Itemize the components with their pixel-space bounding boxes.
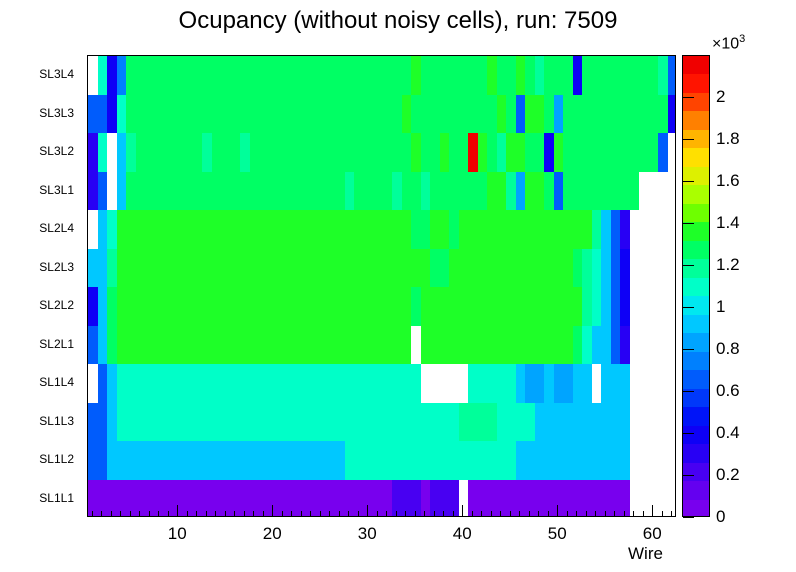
heatmap-cell xyxy=(231,56,241,95)
heatmap-cell xyxy=(582,172,592,211)
heatmap-cell xyxy=(164,210,174,249)
x-axis-minor-tick xyxy=(206,511,207,517)
x-axis-minor-tick xyxy=(111,511,112,517)
heatmap-cell xyxy=(316,249,326,288)
heatmap-cell xyxy=(278,326,288,365)
heatmap-cell xyxy=(212,56,222,95)
heatmap-cell xyxy=(392,287,402,326)
heatmap-cell xyxy=(88,441,98,480)
heatmap-cell xyxy=(212,249,222,288)
heatmap-cell xyxy=(516,403,526,442)
heatmap-cell xyxy=(554,210,564,249)
heatmap-cell xyxy=(411,172,421,211)
heatmap-cell xyxy=(164,172,174,211)
heatmap-cell xyxy=(411,441,421,480)
x-axis-major-tick xyxy=(652,505,653,517)
heatmap-cell xyxy=(98,210,108,249)
x-axis-minor-tick xyxy=(282,511,283,517)
heatmap-cell xyxy=(582,364,592,403)
heatmap-cell xyxy=(478,210,488,249)
heatmap-cell xyxy=(611,133,621,172)
heatmap-cell xyxy=(117,56,127,95)
heatmap-cell xyxy=(468,326,478,365)
heatmap-cell xyxy=(259,364,269,403)
heatmap-cell xyxy=(516,480,526,518)
x-axis-minor-tick xyxy=(443,511,444,517)
heatmap-cell xyxy=(478,56,488,95)
heatmap-cell xyxy=(535,364,545,403)
heatmap-cell xyxy=(326,480,336,518)
heatmap-cell xyxy=(240,210,250,249)
heatmap-cell xyxy=(468,133,478,172)
heatmap-cell xyxy=(288,364,298,403)
heatmap-cell xyxy=(554,441,564,480)
heatmap-cell xyxy=(221,287,231,326)
heatmap-cell xyxy=(525,133,535,172)
heatmap-cell xyxy=(516,95,526,134)
heatmap-cell xyxy=(516,364,526,403)
heatmap-cell xyxy=(364,480,374,518)
heatmap-cell xyxy=(288,172,298,211)
x-axis-minor-tick xyxy=(291,511,292,517)
heatmap-cell xyxy=(383,249,393,288)
x-axis-minor-tick xyxy=(396,511,397,517)
heatmap-cell xyxy=(563,249,573,288)
x-axis-title: Wire xyxy=(628,545,663,562)
heatmap-cells xyxy=(88,56,675,516)
heatmap-cell xyxy=(202,172,212,211)
heatmap-cell xyxy=(288,56,298,95)
heatmap-cell xyxy=(516,210,526,249)
heatmap-cell xyxy=(554,95,564,134)
heatmap-cell xyxy=(402,326,412,365)
colorbar-band xyxy=(683,185,709,204)
colorbar-tick-label: 1.6 xyxy=(716,172,740,189)
x-axis-minor-tick xyxy=(586,511,587,517)
heatmap-cell xyxy=(364,95,374,134)
heatmap-plot-area[interactable] xyxy=(87,55,676,517)
heatmap-cell xyxy=(107,403,117,442)
heatmap-cell xyxy=(373,403,383,442)
heatmap-cell xyxy=(297,249,307,288)
heatmap-cell xyxy=(535,441,545,480)
heatmap-cell xyxy=(278,403,288,442)
heatmap-cell xyxy=(592,172,602,211)
heatmap-cell xyxy=(459,249,469,288)
heatmap-cell xyxy=(98,172,108,211)
heatmap-cell xyxy=(335,133,345,172)
heatmap-cell xyxy=(468,287,478,326)
heatmap-cell xyxy=(193,56,203,95)
heatmap-cell xyxy=(335,210,345,249)
heatmap-cell xyxy=(240,95,250,134)
heatmap-cell xyxy=(497,326,507,365)
heatmap-cell xyxy=(335,403,345,442)
heatmap-cell xyxy=(421,210,431,249)
heatmap-cell xyxy=(611,56,621,95)
colorbar-tick-label: 0 xyxy=(716,508,725,525)
heatmap-cell xyxy=(497,441,507,480)
heatmap-cell xyxy=(392,326,402,365)
y-axis-label-sl2l3: SL2L3 xyxy=(39,261,74,273)
heatmap-cell xyxy=(250,441,260,480)
heatmap-cell xyxy=(554,480,564,518)
heatmap-cell xyxy=(107,56,117,95)
colorbar-band xyxy=(683,426,709,445)
heatmap-cell xyxy=(88,133,98,172)
heatmap-cell xyxy=(345,403,355,442)
heatmap-cell xyxy=(364,249,374,288)
heatmap-cell xyxy=(174,403,184,442)
heatmap-cell xyxy=(364,287,374,326)
heatmap-cell xyxy=(164,95,174,134)
heatmap-cell xyxy=(269,403,279,442)
heatmap-cell xyxy=(601,172,611,211)
heatmap-cell xyxy=(658,95,668,134)
y-axis-label-sl3l3: SL3L3 xyxy=(39,107,74,119)
heatmap-cell xyxy=(316,95,326,134)
x-axis-minor-tick xyxy=(263,511,264,517)
heatmap-cell xyxy=(506,287,516,326)
heatmap-cell xyxy=(326,210,336,249)
heatmap-cell xyxy=(326,249,336,288)
heatmap-cell xyxy=(107,364,117,403)
x-axis-major-tick xyxy=(272,505,273,517)
heatmap-cell xyxy=(364,364,374,403)
heatmap-cell xyxy=(421,403,431,442)
heatmap-cell xyxy=(231,210,241,249)
heatmap-cell xyxy=(554,172,564,211)
heatmap-cell xyxy=(354,210,364,249)
heatmap-cell xyxy=(98,249,108,288)
heatmap-cell xyxy=(582,326,592,365)
heatmap-cell xyxy=(98,364,108,403)
y-axis-label-sl1l3: SL1L3 xyxy=(39,415,74,427)
heatmap-cell xyxy=(601,441,611,480)
heatmap-cell xyxy=(297,364,307,403)
heatmap-cell xyxy=(421,133,431,172)
heatmap-cell xyxy=(383,95,393,134)
heatmap-cell xyxy=(459,133,469,172)
heatmap-cell xyxy=(411,287,421,326)
heatmap-cell xyxy=(221,441,231,480)
heatmap-cell xyxy=(668,95,677,134)
x-axis-minor-tick xyxy=(196,511,197,517)
heatmap-cell xyxy=(478,133,488,172)
heatmap-cell xyxy=(592,95,602,134)
heatmap-cell xyxy=(468,210,478,249)
heatmap-cell xyxy=(136,480,146,518)
heatmap-cell xyxy=(231,287,241,326)
heatmap-cell xyxy=(240,326,250,365)
heatmap-cell xyxy=(250,480,260,518)
colorbar-tick-label: 0.4 xyxy=(716,424,740,441)
colorbar-band xyxy=(683,167,709,186)
heatmap-cell xyxy=(639,133,649,172)
heatmap-cell xyxy=(269,364,279,403)
heatmap-cell xyxy=(554,287,564,326)
heatmap-cell xyxy=(259,56,269,95)
colorbar-band xyxy=(683,74,709,93)
colorbar-tick xyxy=(683,349,694,350)
heatmap-cell xyxy=(601,56,611,95)
heatmap-cell xyxy=(88,249,98,288)
heatmap-cell xyxy=(307,95,317,134)
heatmap-cell xyxy=(278,56,288,95)
x-axis-minor-tick xyxy=(405,511,406,517)
heatmap-cell xyxy=(288,326,298,365)
heatmap-cell xyxy=(126,326,136,365)
heatmap-cell xyxy=(563,441,573,480)
heatmap-cell xyxy=(592,441,602,480)
heatmap-cell xyxy=(345,364,355,403)
x-axis-minor-tick xyxy=(92,511,93,517)
heatmap-cell xyxy=(383,287,393,326)
heatmap-cell xyxy=(98,441,108,480)
heatmap-cell xyxy=(212,133,222,172)
heatmap-cell xyxy=(354,56,364,95)
heatmap-cell xyxy=(269,480,279,518)
heatmap-cell xyxy=(658,133,668,172)
heatmap-cell xyxy=(478,249,488,288)
heatmap-cell xyxy=(573,133,583,172)
colorbar-tick-label: 2 xyxy=(716,88,725,105)
heatmap-cell xyxy=(278,364,288,403)
heatmap-cell xyxy=(592,56,602,95)
heatmap-cell xyxy=(497,364,507,403)
colorbar-band xyxy=(683,315,709,334)
heatmap-cell xyxy=(145,95,155,134)
heatmap-cell xyxy=(459,172,469,211)
heatmap-cell xyxy=(326,364,336,403)
heatmap-cell xyxy=(269,287,279,326)
colorbar-tick xyxy=(683,139,694,140)
heatmap-cell xyxy=(449,287,459,326)
heatmap-cell xyxy=(525,364,535,403)
heatmap-cell xyxy=(278,249,288,288)
heatmap-cell xyxy=(259,210,269,249)
heatmap-cell xyxy=(563,210,573,249)
heatmap-cell xyxy=(126,441,136,480)
heatmap-cell xyxy=(316,364,326,403)
heatmap-cell xyxy=(107,249,117,288)
heatmap-cell xyxy=(392,210,402,249)
heatmap-cell xyxy=(592,133,602,172)
heatmap-cell xyxy=(297,287,307,326)
heatmap-cell xyxy=(582,56,592,95)
heatmap-cell xyxy=(630,56,640,95)
x-axis-minor-tick xyxy=(472,511,473,517)
heatmap-cell xyxy=(364,133,374,172)
heatmap-cell xyxy=(411,133,421,172)
heatmap-cell xyxy=(117,441,127,480)
heatmap-cell xyxy=(506,56,516,95)
heatmap-cell xyxy=(411,95,421,134)
heatmap-cell xyxy=(278,133,288,172)
heatmap-cell xyxy=(459,210,469,249)
heatmap-cell xyxy=(449,56,459,95)
heatmap-cell xyxy=(364,56,374,95)
heatmap-cell xyxy=(535,95,545,134)
heatmap-cell xyxy=(221,172,231,211)
heatmap-cell xyxy=(183,287,193,326)
heatmap-cell xyxy=(307,287,317,326)
heatmap-cell xyxy=(611,172,621,211)
colorbar-tick xyxy=(683,433,694,434)
heatmap-cell xyxy=(620,441,630,480)
heatmap-cell xyxy=(506,326,516,365)
heatmap-cell xyxy=(573,249,583,288)
heatmap-cell xyxy=(592,287,602,326)
heatmap-cell xyxy=(440,249,450,288)
heatmap-cell xyxy=(316,56,326,95)
x-axis-minor-tick xyxy=(529,511,530,517)
heatmap-cell xyxy=(250,172,260,211)
x-axis-minor-tick xyxy=(215,511,216,517)
heatmap-cell xyxy=(506,172,516,211)
heatmap-cell xyxy=(307,133,317,172)
heatmap-cell xyxy=(630,133,640,172)
heatmap-cell xyxy=(259,403,269,442)
heatmap-cell xyxy=(183,441,193,480)
heatmap-cell xyxy=(221,364,231,403)
heatmap-cell xyxy=(231,133,241,172)
heatmap-cell xyxy=(573,364,583,403)
heatmap-cell xyxy=(126,287,136,326)
heatmap-cell xyxy=(611,210,621,249)
root-canvas: Ocupancy (without noisy cells), run: 750… xyxy=(0,0,796,572)
heatmap-cell xyxy=(535,133,545,172)
heatmap-cell xyxy=(535,210,545,249)
x-axis-minor-tick xyxy=(519,511,520,517)
heatmap-cell xyxy=(630,95,640,134)
heatmap-cell xyxy=(98,403,108,442)
colorbar-tick xyxy=(683,391,694,392)
heatmap-cell xyxy=(193,403,203,442)
heatmap-cell xyxy=(212,172,222,211)
heatmap-cell xyxy=(117,480,127,518)
heatmap-cell xyxy=(487,441,497,480)
heatmap-cell xyxy=(639,95,649,134)
heatmap-cell xyxy=(183,133,193,172)
heatmap-cell xyxy=(430,210,440,249)
heatmap-cell xyxy=(155,56,165,95)
heatmap-cell xyxy=(326,326,336,365)
heatmap-cell xyxy=(136,172,146,211)
colorbar-band xyxy=(683,111,709,130)
heatmap-cell xyxy=(525,287,535,326)
y-axis-labels: SL3L4SL3L3SL3L2SL3L1SL2L4SL2L3SL2L2SL2L1… xyxy=(0,55,82,517)
heatmap-cell xyxy=(421,56,431,95)
heatmap-cell xyxy=(592,249,602,288)
x-axis-minor-tick xyxy=(434,511,435,517)
colorbar-band xyxy=(683,241,709,260)
heatmap-cell xyxy=(601,249,611,288)
colorbar-tick xyxy=(683,517,694,518)
x-axis-major-tick xyxy=(557,505,558,517)
heatmap-cell xyxy=(535,172,545,211)
heatmap-cell xyxy=(392,403,402,442)
heatmap-cell xyxy=(630,172,640,211)
heatmap-cell xyxy=(421,172,431,211)
heatmap-cell xyxy=(240,133,250,172)
heatmap-cell xyxy=(345,249,355,288)
heatmap-cell xyxy=(98,480,108,518)
x-axis-major-tick xyxy=(177,505,178,517)
heatmap-cell xyxy=(582,95,592,134)
heatmap-cell xyxy=(383,326,393,365)
heatmap-cell xyxy=(288,441,298,480)
heatmap-cell xyxy=(136,326,146,365)
heatmap-cell xyxy=(506,95,516,134)
heatmap-cell xyxy=(611,287,621,326)
heatmap-cell xyxy=(193,133,203,172)
colorbar-band xyxy=(683,56,709,75)
heatmap-cell xyxy=(449,95,459,134)
heatmap-cell xyxy=(259,95,269,134)
heatmap-cell xyxy=(392,133,402,172)
heatmap-cell xyxy=(392,441,402,480)
heatmap-cell xyxy=(307,56,317,95)
x-axis-minor-tick xyxy=(510,511,511,517)
heatmap-cell xyxy=(117,172,127,211)
colorbar-tick-label: 0.6 xyxy=(716,382,740,399)
heatmap-cell xyxy=(231,249,241,288)
x-axis-minor-tick xyxy=(453,511,454,517)
heatmap-cell xyxy=(164,326,174,365)
heatmap-cell xyxy=(326,172,336,211)
x-axis-minor-tick xyxy=(244,511,245,517)
heatmap-cell xyxy=(592,326,602,365)
x-axis-minor-tick xyxy=(605,511,606,517)
x-axis-minor-tick xyxy=(168,511,169,517)
heatmap-cell xyxy=(345,441,355,480)
colorbar[interactable] xyxy=(682,55,710,517)
heatmap-cell xyxy=(649,133,659,172)
heatmap-cell xyxy=(202,95,212,134)
heatmap-cell xyxy=(193,441,203,480)
heatmap-cell xyxy=(202,364,212,403)
heatmap-cell xyxy=(468,172,478,211)
heatmap-cell xyxy=(307,441,317,480)
heatmap-cell xyxy=(117,364,127,403)
heatmap-cell xyxy=(620,287,630,326)
heatmap-cell xyxy=(440,172,450,211)
heatmap-cell xyxy=(582,403,592,442)
heatmap-cell xyxy=(449,441,459,480)
x-axis-minor-tick xyxy=(348,511,349,517)
heatmap-cell xyxy=(155,95,165,134)
heatmap-cell xyxy=(563,172,573,211)
heatmap-cell xyxy=(497,133,507,172)
heatmap-cell xyxy=(430,56,440,95)
heatmap-cell xyxy=(544,364,554,403)
heatmap-cell xyxy=(516,287,526,326)
heatmap-cell xyxy=(592,403,602,442)
heatmap-cell xyxy=(269,326,279,365)
heatmap-cell xyxy=(601,133,611,172)
heatmap-cell xyxy=(174,95,184,134)
heatmap-cell xyxy=(611,95,621,134)
heatmap-cell xyxy=(335,249,345,288)
heatmap-cell xyxy=(288,287,298,326)
heatmap-cell xyxy=(544,403,554,442)
heatmap-cell xyxy=(402,95,412,134)
colorbar-tick xyxy=(683,181,694,182)
x-axis-minor-tick xyxy=(187,511,188,517)
colorbar-band xyxy=(683,481,709,500)
y-axis-label-sl1l2: SL1L2 xyxy=(39,453,74,465)
